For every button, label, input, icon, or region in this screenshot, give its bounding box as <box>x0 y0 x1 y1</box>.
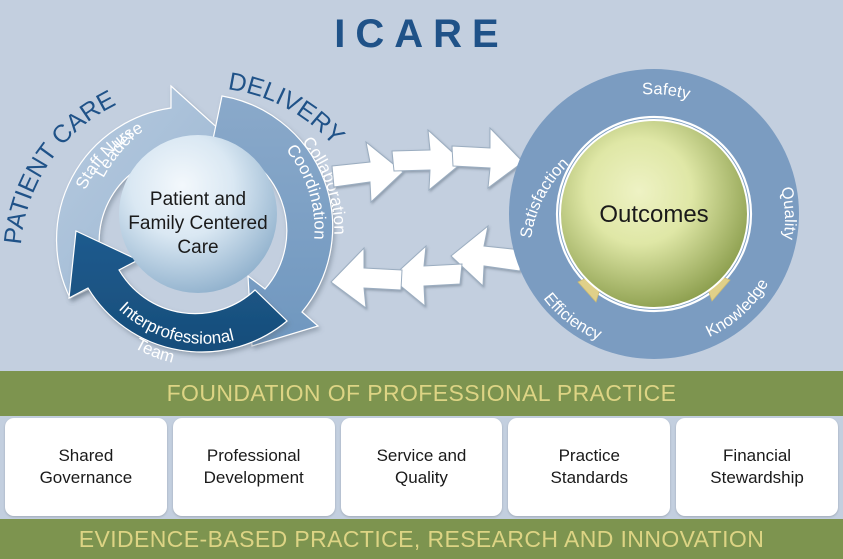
chevron-right-3 <box>452 128 523 188</box>
icare-model-diagram: ICARE <box>0 0 843 559</box>
pillar-card-line1: Shared <box>58 446 113 465</box>
diagram-canvas: PATIENT CARE DELIVERY Staff Nurse Leader… <box>0 50 843 368</box>
pillar-card-label: Professional Development <box>198 445 310 489</box>
pillar-card-professional-development[interactable]: Professional Development <box>173 418 335 516</box>
pillar-card-label: Service and Quality <box>371 445 473 489</box>
pillar-card-line1: Professional <box>207 446 301 465</box>
foundation-band: FOUNDATION OF PROFESSIONAL PRACTICE <box>0 371 843 416</box>
pillar-card-practice-standards[interactable]: Practice Standards <box>508 418 670 516</box>
pillar-card-line2: Standards <box>551 468 629 487</box>
evidence-band-label: EVIDENCE-BASED PRACTICE, RESEARCH AND IN… <box>79 526 764 553</box>
pillar-card-financial-stewardship[interactable]: Financial Stewardship <box>676 418 838 516</box>
pillar-card-list: Shared Governance Professional Developme… <box>5 418 838 516</box>
pillar-card-line1: Practice <box>559 446 620 465</box>
pillar-card-line2: Governance <box>40 468 133 487</box>
pillar-card-line2: Quality <box>395 468 448 487</box>
chevron-left-3 <box>331 248 402 308</box>
pillar-card-line1: Service and <box>377 446 467 465</box>
pillar-card-line2: Development <box>204 468 304 487</box>
pillar-card-service-and-quality[interactable]: Service and Quality <box>341 418 503 516</box>
pillar-card-label: Shared Governance <box>34 445 139 489</box>
pillar-card-line1: Financial <box>723 446 791 465</box>
chevron-row-bottom <box>331 226 522 308</box>
pillar-card-line2: Stewardship <box>710 468 804 487</box>
core-label-line3: Care <box>177 237 218 258</box>
chevron-row-top <box>332 128 523 202</box>
left-cycle-group: PATIENT CARE DELIVERY Staff Nurse Leader… <box>0 67 350 366</box>
pillar-card-shared-governance[interactable]: Shared Governance <box>5 418 167 516</box>
pillar-card-label: Financial Stewardship <box>704 445 810 489</box>
foundation-band-label: FOUNDATION OF PROFESSIONAL PRACTICE <box>167 380 677 407</box>
outcomes-label: Outcomes <box>599 201 708 228</box>
core-label-line1: Patient and <box>150 189 246 210</box>
evidence-band: EVIDENCE-BASED PRACTICE, RESEARCH AND IN… <box>0 519 843 559</box>
connector-chevrons <box>331 128 523 308</box>
pillar-card-label: Practice Standards <box>545 445 635 489</box>
core-label-line2: Family Centered <box>128 213 267 234</box>
right-outcomes-group: Safety Quality Knowledge Efficiency Sati… <box>509 69 799 359</box>
